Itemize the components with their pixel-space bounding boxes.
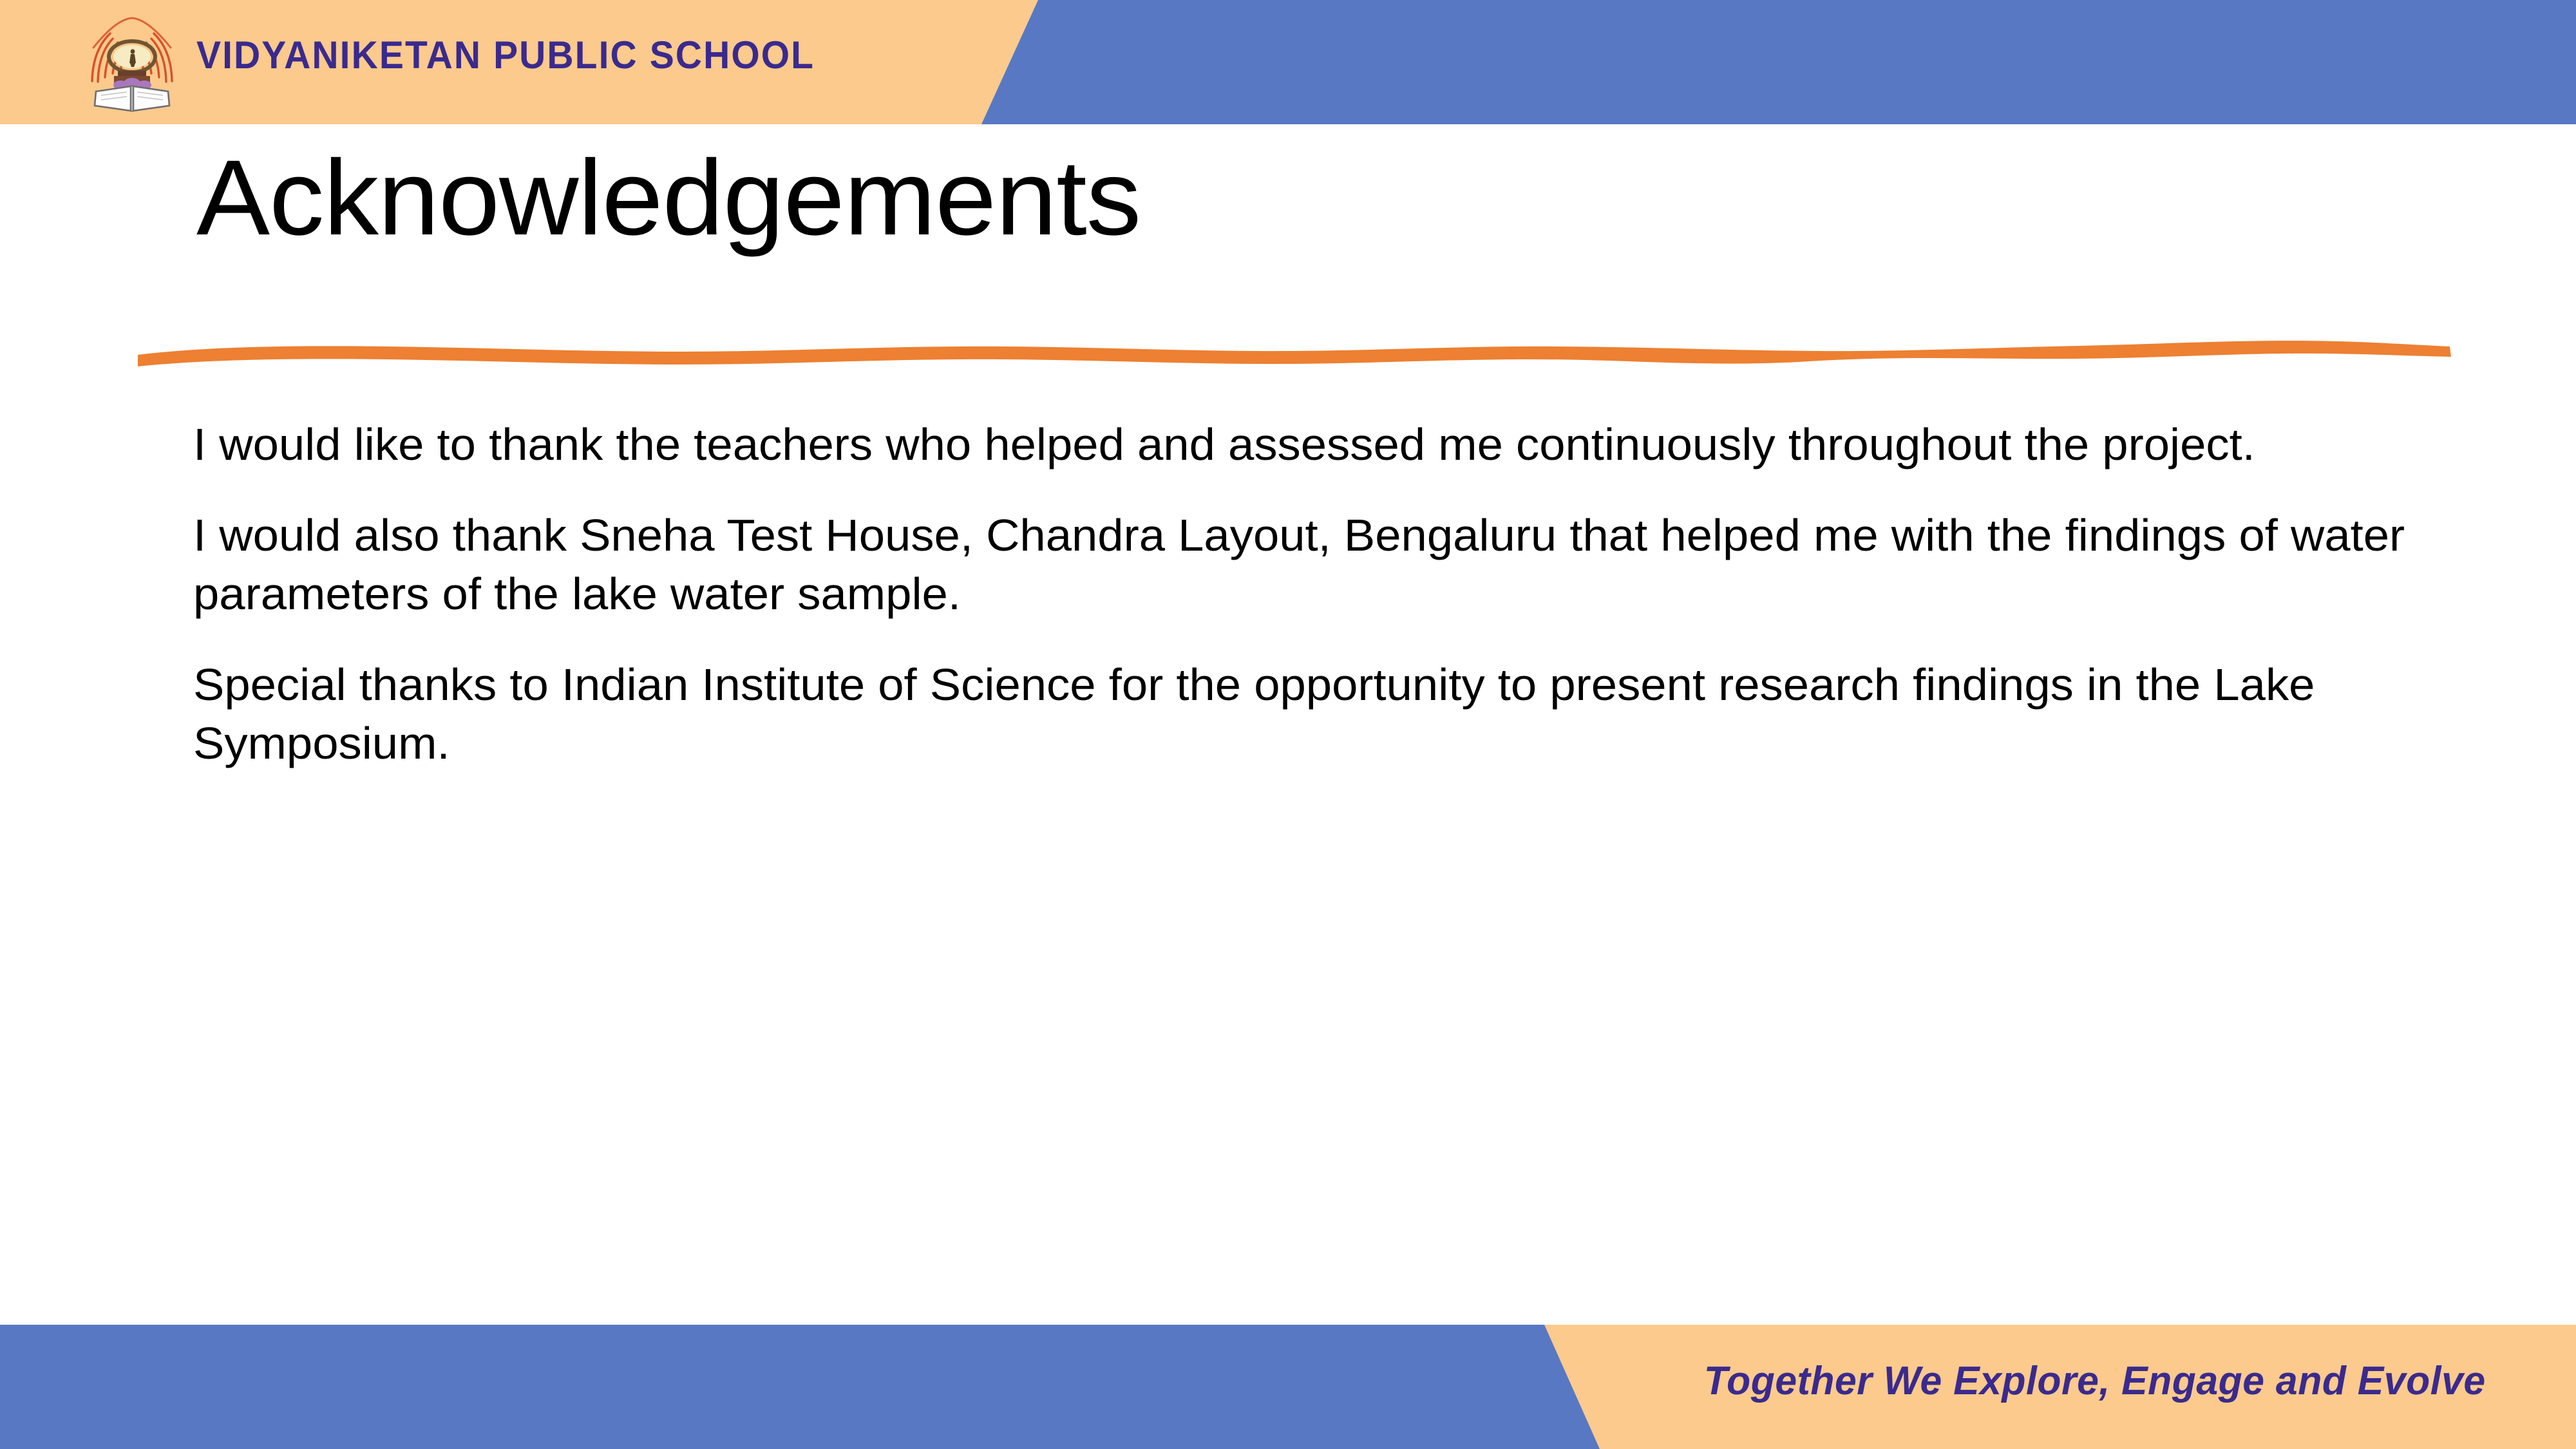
slide-footer-band: Together We Explore, Engage and Evolve xyxy=(0,1325,2576,1449)
body-content: I would like to thank the teachers who h… xyxy=(193,415,2460,773)
body-paragraph: I would like to thank the teachers who h… xyxy=(193,415,2539,474)
body-paragraph: Special thanks to Indian Institute of Sc… xyxy=(193,656,2539,773)
hand-drawn-brush-stroke-divider-icon xyxy=(129,325,2460,372)
school-name-label: VIDYANIKETAN PUBLIC SCHOOL xyxy=(196,36,815,75)
school-crest-open-book-icon xyxy=(80,9,184,117)
presentation-slide: VIDYANIKETAN PUBLIC SCHOOL Acknowledgeme… xyxy=(0,0,2576,1449)
page-title: Acknowledgements xyxy=(196,140,1141,256)
school-tagline-label: Together We Explore, Engage and Evolve xyxy=(1704,1361,2486,1401)
slide-header-band: VIDYANIKETAN PUBLIC SCHOOL xyxy=(0,0,2576,124)
body-paragraph: I would also thank Sneha Test House, Cha… xyxy=(193,506,2539,623)
